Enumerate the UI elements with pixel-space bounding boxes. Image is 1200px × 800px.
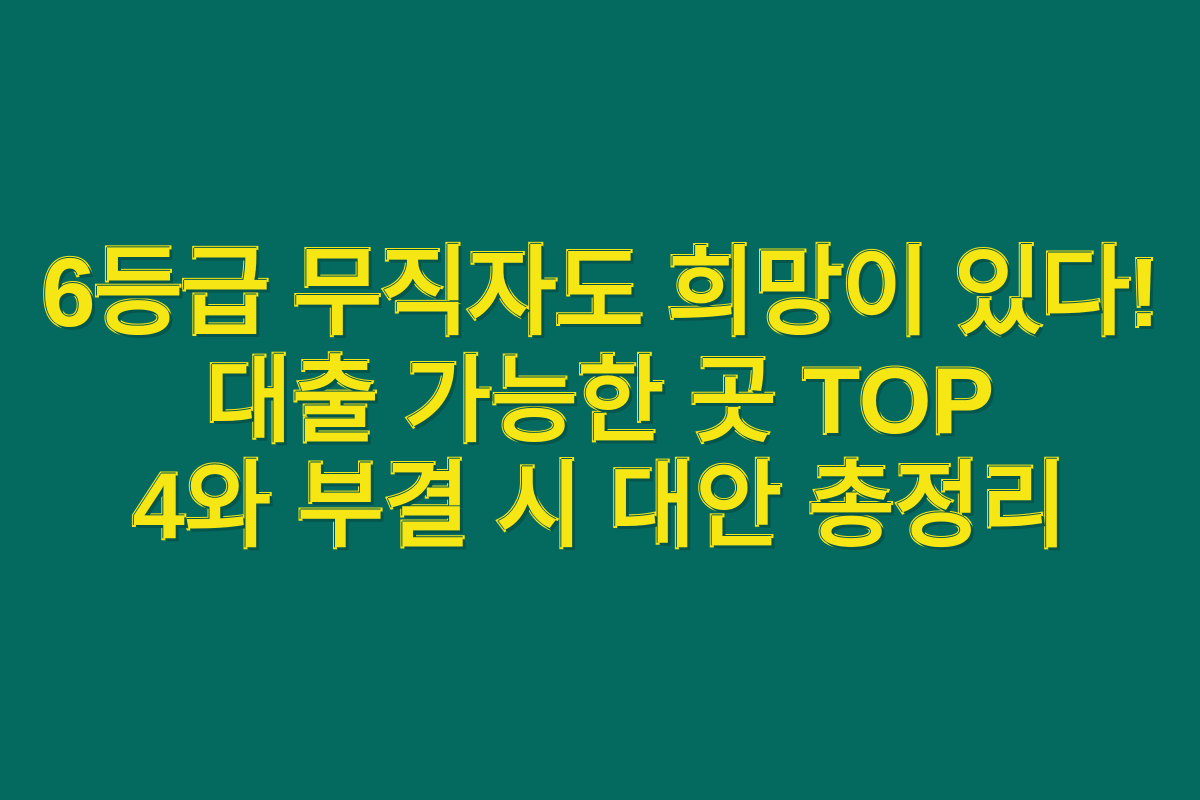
headline-line-1: 6등급 무직자도 희망이 있다! bbox=[42, 239, 1159, 348]
banner-canvas: 6등급 무직자도 희망이 있다! 대출 가능한 곳 TOP 4와 부결 시 대안… bbox=[0, 0, 1200, 800]
headline-block: 6등급 무직자도 희망이 있다! 대출 가능한 곳 TOP 4와 부결 시 대안… bbox=[20, 239, 1180, 558]
headline-line-3: 4와 부결 시 대안 총정리 bbox=[132, 453, 1067, 558]
headline-line-2: 대출 가능한 곳 TOP bbox=[206, 348, 995, 453]
